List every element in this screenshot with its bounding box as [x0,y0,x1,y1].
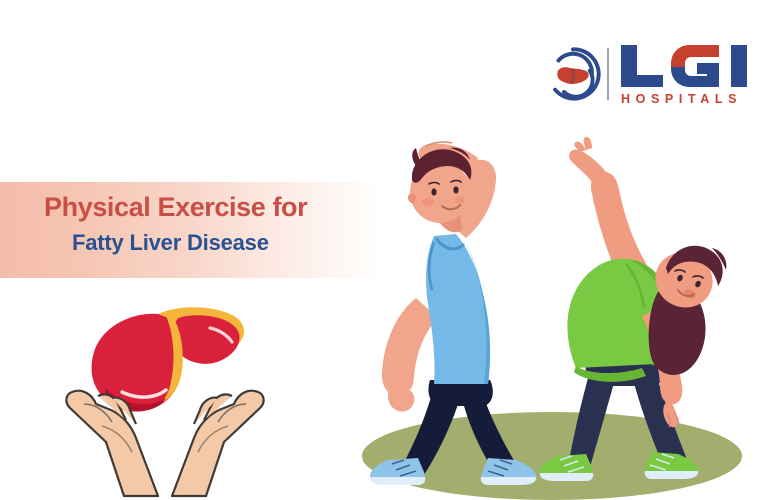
logo-tagline: HOSPITALS [621,93,742,106]
hands-holding-liver-illustration [62,300,267,500]
lgi-lettermark [619,43,769,89]
brand-logo[interactable]: HOSPITALS [545,38,740,110]
right-hand-graphic [172,391,264,496]
logo-wordmark: HOSPITALS [619,43,769,106]
logo-divider [607,48,609,100]
banner-canvas: HOSPITALS Physical Exercise for Fatty Li… [0,0,770,500]
people-exercising-illustration [330,118,770,500]
liver-in-circle-logo-mark [545,46,601,102]
